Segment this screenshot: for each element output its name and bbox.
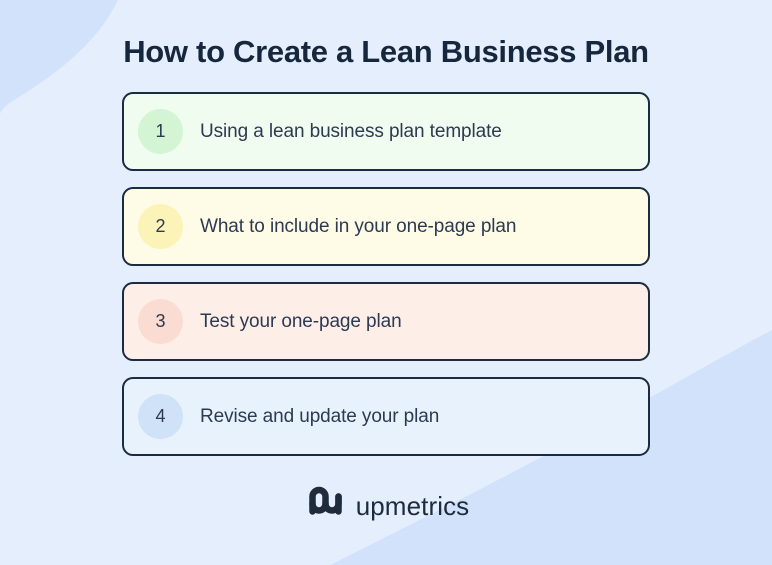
page-title: How to Create a Lean Business Plan [123, 33, 649, 70]
brand-logo: upmetrics [303, 484, 470, 527]
step-card[interactable]: 2What to include in your one-page plan [122, 187, 650, 266]
step-card[interactable]: 3Test your one-page plan [122, 282, 650, 361]
step-label: Revise and update your plan [200, 406, 439, 428]
step-label: What to include in your one-page plan [200, 216, 516, 238]
step-card[interactable]: 1Using a lean business plan template [122, 92, 650, 171]
upmetrics-m-mark-icon [303, 484, 345, 527]
step-number-badge: 4 [138, 394, 183, 439]
brand-wordmark: upmetrics [356, 493, 470, 519]
step-number-badge: 2 [138, 204, 183, 249]
step-number-badge: 1 [138, 109, 183, 154]
steps-list: 1Using a lean business plan template2Wha… [122, 92, 650, 456]
step-label: Test your one-page plan [200, 311, 402, 333]
infographic-page: How to Create a Lean Business Plan 1Usin… [0, 0, 772, 565]
step-card[interactable]: 4Revise and update your plan [122, 377, 650, 456]
step-number-badge: 3 [138, 299, 183, 344]
step-label: Using a lean business plan template [200, 121, 502, 143]
